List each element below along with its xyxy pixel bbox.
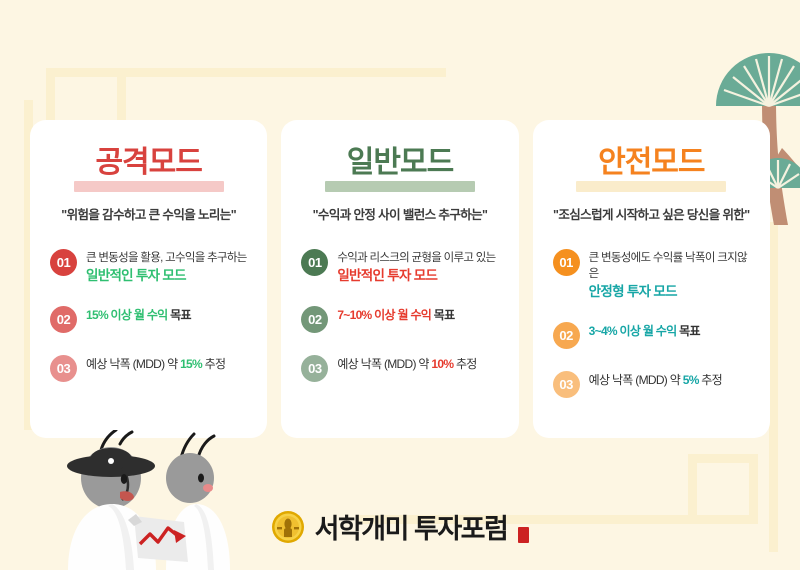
item-badge: 02	[553, 322, 580, 349]
item-accent-text: 3~4% 이상 월 수익	[589, 324, 677, 338]
item-badge: 03	[553, 371, 580, 398]
item-line-1: 수익과 리스크의 균형을 이루고 있는	[337, 250, 495, 266]
mode-cards-container: 공격모드 "위험을 감수하고 큰 수익을 노리는" 01 큰 변동성을 활용, …	[30, 120, 770, 438]
item-text: 예상 낙폭 (MDD) 약 10% 추정	[337, 355, 476, 372]
card-title-wrap: 안전모드	[553, 146, 750, 194]
item-plain-text: 목표	[676, 324, 699, 338]
item-line-2: 일반적인 투자 모드	[86, 268, 247, 284]
list-item: 01 수익과 리스크의 균형을 이루고 있는 일반적인 투자 모드	[301, 249, 498, 284]
title-highlight-bar	[325, 181, 475, 192]
gold-coin-icon	[271, 510, 305, 544]
item-badge: 01	[50, 249, 77, 276]
list-item: 02 15% 이상 월 수익 목표	[50, 306, 247, 333]
card-title: 공격모드	[50, 146, 247, 180]
list-item: 03 예상 낙폭 (MDD) 약 10% 추정	[301, 355, 498, 382]
card-title: 일반모드	[301, 146, 498, 180]
item-line-1: 큰 변동성을 활용, 고수익을 추구하는	[86, 250, 247, 266]
card-subtitle: "위험을 감수하고 큰 수익을 노리는"	[50, 204, 247, 223]
item-accent-text: 5%	[683, 373, 699, 387]
item-line-1: 큰 변동성에도 수익률 낙폭이 크지않은	[589, 250, 750, 282]
card-items: 01 큰 변동성을 활용, 고수익을 추구하는 일반적인 투자 모드 02 15…	[50, 249, 247, 382]
item-badge: 01	[301, 249, 328, 276]
item-text: 예상 낙폭 (MDD) 약 15% 추정	[86, 355, 225, 372]
item-line-2: 안정형 투자 모드	[589, 284, 750, 300]
item-line-2: 일반적인 투자 모드	[337, 268, 495, 284]
item-suffix-text: 추정	[202, 357, 225, 371]
card-safe-mode[interactable]: 안전모드 "조심스럽게 시작하고 싶은 당신을 위한" 01 큰 변동성에도 수…	[533, 120, 770, 438]
item-plain-text: 목표	[431, 308, 454, 322]
card-title: 안전모드	[553, 146, 750, 180]
item-prefix-text: 예상 낙폭 (MDD) 약	[86, 357, 180, 371]
list-item: 01 큰 변동성을 활용, 고수익을 추구하는 일반적인 투자 모드	[50, 249, 247, 284]
forum-logo[interactable]: 서학개미 투자포럼	[0, 507, 800, 546]
card-title-wrap: 공격모드	[50, 146, 247, 194]
card-items: 01 수익과 리스크의 균형을 이루고 있는 일반적인 투자 모드 02 7~1…	[301, 249, 498, 382]
item-badge: 03	[50, 355, 77, 382]
item-text: 7~10% 이상 월 수익 목표	[337, 306, 454, 323]
item-badge: 03	[301, 355, 328, 382]
list-item: 03 예상 낙폭 (MDD) 약 15% 추정	[50, 355, 247, 382]
card-items: 01 큰 변동성에도 수익률 낙폭이 크지않은 안정형 투자 모드 02 3~4…	[553, 249, 750, 398]
item-prefix-text: 예상 낙폭 (MDD) 약	[337, 357, 431, 371]
logo-text: 서학개미 투자포럼	[315, 507, 508, 546]
item-badge: 02	[301, 306, 328, 333]
frame-bottom-right-decor	[670, 430, 800, 570]
item-accent-text: 10%	[431, 357, 453, 371]
item-suffix-text: 추정	[453, 357, 476, 371]
card-subtitle: "조심스럽게 시작하고 싶은 당신을 위한"	[553, 204, 750, 223]
item-text: 수익과 리스크의 균형을 이루고 있는 일반적인 투자 모드	[337, 249, 495, 284]
item-text: 예상 낙폭 (MDD) 약 5% 추정	[589, 371, 722, 388]
list-item: 02 3~4% 이상 월 수익 목표	[553, 322, 750, 349]
item-text: 큰 변동성을 활용, 고수익을 추구하는 일반적인 투자 모드	[86, 249, 247, 284]
list-item: 03 예상 낙폭 (MDD) 약 5% 추정	[553, 371, 750, 398]
title-highlight-bar	[576, 181, 726, 192]
card-subtitle: "수익과 안정 사이 밸런스 추구하는"	[301, 204, 498, 223]
item-plain-text: 목표	[168, 308, 191, 322]
item-accent-text: 15%	[180, 357, 202, 371]
card-title-wrap: 일반모드	[301, 146, 498, 194]
item-text: 3~4% 이상 월 수익 목표	[589, 322, 700, 339]
card-normal-mode[interactable]: 일반모드 "수익과 안정 사이 밸런스 추구하는" 01 수익과 리스크의 균형…	[281, 120, 518, 438]
card-aggressive-mode[interactable]: 공격모드 "위험을 감수하고 큰 수익을 노리는" 01 큰 변동성을 활용, …	[30, 120, 267, 438]
list-item: 01 큰 변동성에도 수익률 낙폭이 크지않은 안정형 투자 모드	[553, 249, 750, 300]
item-text: 큰 변동성에도 수익률 낙폭이 크지않은 안정형 투자 모드	[589, 249, 750, 300]
title-highlight-bar	[74, 181, 224, 192]
item-accent-text: 7~10% 이상 월 수익	[337, 308, 431, 322]
item-prefix-text: 예상 낙폭 (MDD) 약	[589, 373, 683, 387]
item-accent-text: 15% 이상 월 수익	[86, 308, 168, 322]
item-badge: 02	[50, 306, 77, 333]
list-item: 02 7~10% 이상 월 수익 목표	[301, 306, 498, 333]
frame-vertical-bar	[769, 222, 778, 552]
item-badge: 01	[553, 249, 580, 276]
item-suffix-text: 추정	[699, 373, 722, 387]
item-text: 15% 이상 월 수익 목표	[86, 306, 191, 323]
ant-characters-illustration	[38, 430, 268, 570]
red-seal-icon	[518, 527, 529, 543]
